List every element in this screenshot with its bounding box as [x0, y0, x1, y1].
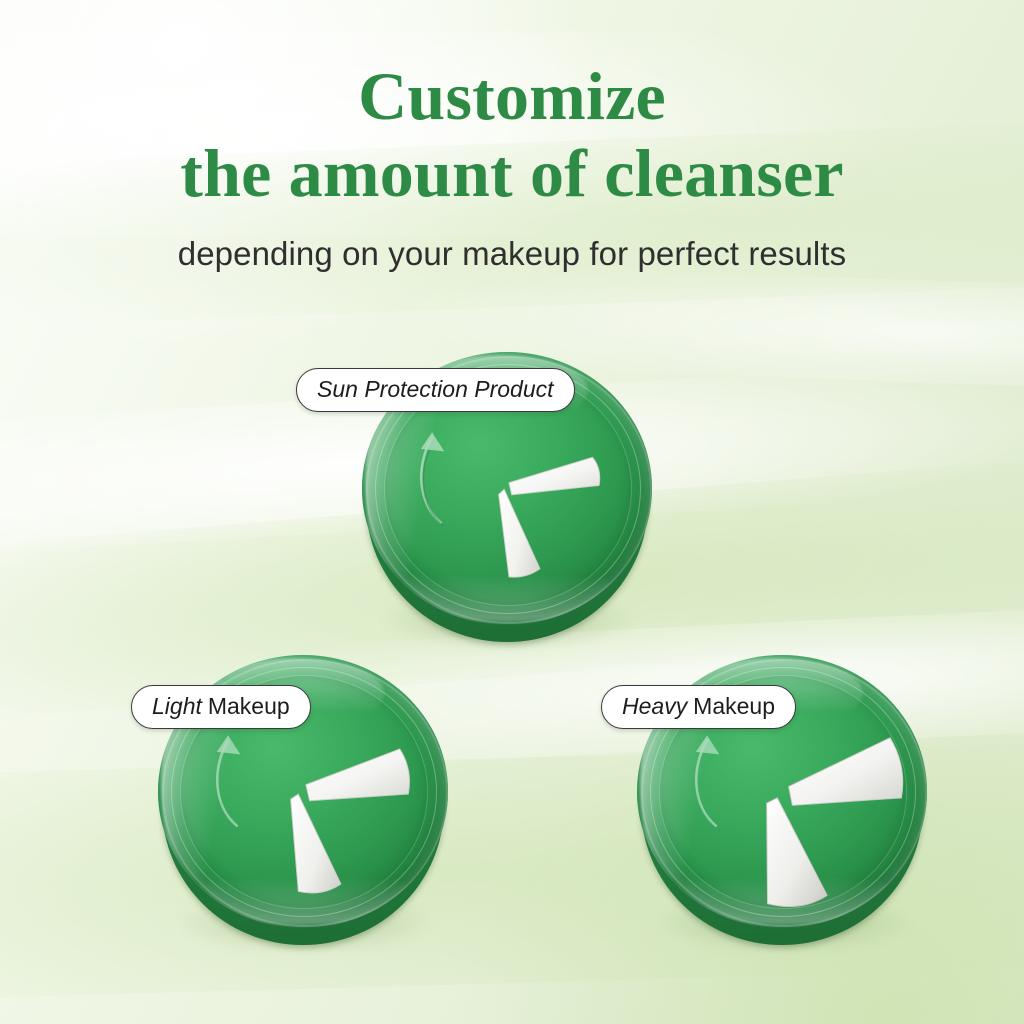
label-light-makeup[interactable]: Light Makeup	[131, 685, 311, 729]
product-infographic: Customize the amount of cleanser dependi…	[0, 0, 1024, 1024]
label-rest: Makeup	[208, 693, 290, 719]
label-heavy-makeup[interactable]: Heavy Makeup	[601, 685, 796, 729]
label-emphasis: Heavy	[622, 693, 687, 719]
headline-line-2: the amount of cleanser	[0, 139, 1024, 208]
page-subtitle: depending on your makeup for perfect res…	[0, 235, 1024, 273]
label-rest: Makeup	[693, 693, 775, 719]
label-sun-protection[interactable]: Sun Protection Product	[296, 368, 575, 412]
page-title: Customize the amount of cleanser	[0, 62, 1024, 209]
label-emphasis: Sun Protection Product	[317, 376, 554, 402]
header-block: Customize the amount of cleanser dependi…	[0, 62, 1024, 273]
label-emphasis: Light	[152, 693, 202, 719]
headline-line-1: Customize	[0, 62, 1024, 131]
